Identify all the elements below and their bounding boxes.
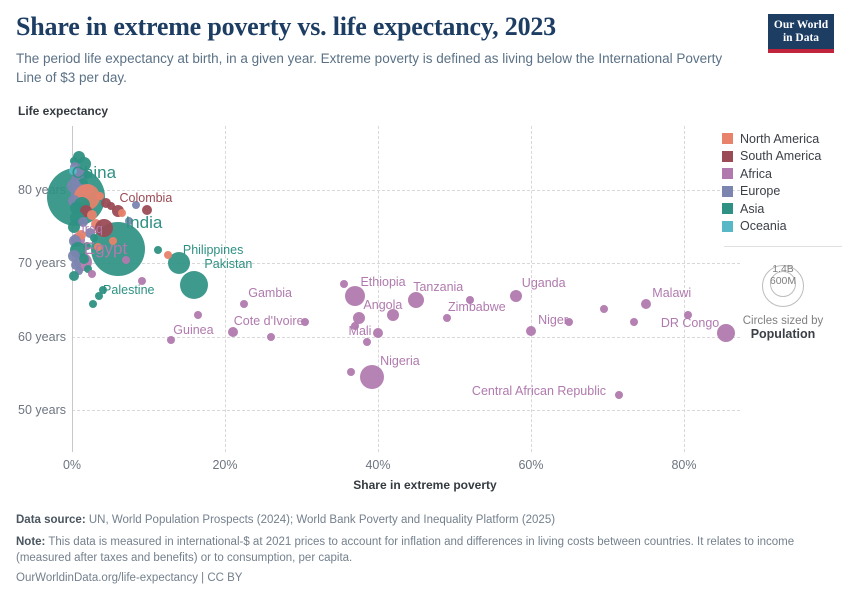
size-legend-caption: Circles sized by — [722, 315, 844, 327]
legend-item-asia[interactable]: Asia — [722, 200, 844, 218]
legend-item-north-america[interactable]: North America — [722, 130, 844, 148]
x-axis-title: Share in extreme poverty — [0, 478, 850, 492]
data-point-niger[interactable] — [526, 326, 536, 336]
point-label: DR Congo — [661, 316, 719, 330]
data-source-label: Data source: — [16, 514, 86, 526]
legend-swatch-icon — [722, 168, 733, 179]
chart-footer: Data source: UN, World Population Prospe… — [16, 512, 816, 584]
size-legend-caption-bold: Population — [722, 327, 844, 341]
y-tick-label: 60 years — [18, 330, 66, 344]
legend-item-africa[interactable]: Africa — [722, 165, 844, 183]
note-line: Note: This data is measured in internati… — [16, 534, 816, 567]
data-point[interactable] — [138, 277, 146, 285]
note-label: Note: — [16, 536, 45, 548]
gridline-vertical — [684, 126, 685, 452]
data-source-text: UN, World Population Prospects (2024); W… — [86, 514, 555, 526]
data-point-tanzania[interactable] — [408, 292, 424, 308]
data-point-mali[interactable] — [373, 328, 383, 338]
data-point[interactable] — [122, 256, 130, 264]
point-label: Philippines — [183, 243, 243, 257]
data-point[interactable] — [99, 286, 107, 294]
y-tick-label: 50 years — [18, 403, 66, 417]
data-point-cote-d-ivoire[interactable] — [228, 327, 238, 337]
y-axis-title: Life expectancy — [18, 104, 108, 118]
legend-swatch-icon — [722, 186, 733, 197]
data-point[interactable] — [387, 309, 399, 321]
legend-label: North America — [740, 132, 819, 146]
legend-swatch-icon — [722, 203, 733, 214]
data-point[interactable] — [142, 205, 152, 215]
data-point-zimbabwe[interactable] — [443, 314, 451, 322]
data-point[interactable] — [630, 318, 638, 326]
chart-header: Share in extreme poverty vs. life expect… — [16, 12, 756, 87]
point-label: Palestine — [103, 283, 154, 297]
gridline-horizontal — [72, 410, 740, 411]
legend-divider — [724, 246, 842, 247]
data-point[interactable] — [164, 251, 172, 259]
page-title: Share in extreme poverty vs. life expect… — [16, 12, 756, 42]
data-point[interactable] — [109, 237, 117, 245]
y-tick-label: 70 years — [18, 256, 66, 270]
legend-item-europe[interactable]: Europe — [722, 183, 844, 201]
data-point-uganda[interactable] — [510, 290, 522, 302]
owid-chart-page: Share in extreme poverty vs. life expect… — [0, 0, 850, 600]
owid-link[interactable]: OurWorldinData.org/life-expectancy | CC … — [16, 572, 816, 584]
point-label: Niger — [538, 313, 568, 327]
point-label: Colombia — [119, 191, 172, 205]
legend-label: Asia — [740, 202, 764, 216]
chart-legend: North AmericaSouth AmericaAfricaEuropeAs… — [722, 130, 844, 341]
data-point[interactable] — [118, 209, 126, 217]
x-tick-label: 80% — [671, 458, 696, 472]
point-label: Gambia — [248, 286, 292, 300]
legend-swatch-icon — [722, 133, 733, 144]
data-point[interactable] — [154, 246, 162, 254]
legend-entries: North AmericaSouth AmericaAfricaEuropeAs… — [722, 130, 844, 235]
data-point[interactable] — [107, 202, 115, 210]
x-tick-label: 60% — [518, 458, 543, 472]
data-point[interactable] — [301, 318, 309, 326]
data-point[interactable] — [89, 300, 97, 308]
data-point[interactable] — [363, 338, 371, 346]
data-point[interactable] — [194, 311, 202, 319]
data-point-guinea[interactable] — [167, 336, 175, 344]
legend-label: Africa — [740, 167, 772, 181]
point-label: Uganda — [522, 276, 566, 290]
owid-logo-line2: in Data — [772, 32, 830, 45]
data-point[interactable] — [88, 270, 96, 278]
data-point[interactable] — [95, 219, 113, 237]
data-point-pakistan[interactable] — [180, 271, 208, 299]
legend-swatch-icon — [722, 221, 733, 232]
point-label: Nigeria — [380, 354, 420, 368]
data-point[interactable] — [466, 296, 474, 304]
data-point[interactable] — [125, 217, 133, 225]
owid-logo-line1: Our World — [772, 19, 830, 32]
x-tick-label: 0% — [63, 458, 81, 472]
size-legend: 1.4B 600M — [722, 255, 844, 313]
data-point[interactable] — [267, 333, 275, 341]
point-label: Ethiopia — [360, 275, 405, 289]
data-point-malawi[interactable] — [641, 299, 651, 309]
data-point[interactable] — [340, 280, 348, 288]
size-legend-small-label: 600M — [770, 275, 796, 287]
data-point[interactable] — [94, 243, 102, 251]
data-point[interactable] — [69, 271, 79, 281]
data-point[interactable] — [90, 234, 98, 242]
data-source-line: Data source: UN, World Population Prospe… — [16, 512, 816, 529]
point-label: Malawi — [652, 286, 691, 300]
owid-logo[interactable]: Our World in Data — [768, 14, 834, 53]
data-point[interactable] — [684, 311, 692, 319]
data-point[interactable] — [565, 318, 573, 326]
legend-label: Europe — [740, 184, 780, 198]
data-point[interactable] — [600, 305, 608, 313]
data-point-central-african-republic[interactable] — [615, 391, 623, 399]
point-label: Guinea — [173, 323, 213, 337]
legend-item-oceania[interactable]: Oceania — [722, 218, 844, 236]
x-tick-label: 40% — [365, 458, 390, 472]
data-point[interactable] — [79, 254, 89, 264]
gridline-vertical — [378, 126, 379, 452]
point-label: Central African Republic — [472, 384, 606, 398]
note-text: This data is measured in international-$… — [16, 536, 794, 565]
gridline-vertical — [531, 126, 532, 452]
point-label: Zimbabwe — [448, 300, 506, 314]
data-point[interactable] — [351, 322, 359, 330]
legend-label: Oceania — [740, 219, 787, 233]
legend-label: South America — [740, 149, 821, 163]
gridline-vertical — [225, 126, 226, 452]
size-legend-large-label: 1.4B — [772, 263, 794, 275]
data-point[interactable] — [132, 201, 140, 209]
legend-item-south-america[interactable]: South America — [722, 148, 844, 166]
data-point-ethiopia[interactable] — [345, 286, 365, 306]
data-point-nigeria[interactable] — [360, 365, 384, 389]
chart-subtitle: The period life expectancy at birth, in … — [16, 49, 746, 87]
x-tick-label: 20% — [212, 458, 237, 472]
data-point[interactable] — [347, 368, 355, 376]
data-point-gambia[interactable] — [240, 300, 248, 308]
point-label: Tanzania — [413, 280, 463, 294]
point-label: Cote d'Ivoire — [234, 314, 304, 328]
legend-swatch-icon — [722, 151, 733, 162]
gridline-horizontal — [72, 190, 740, 191]
data-point[interactable] — [78, 217, 88, 227]
